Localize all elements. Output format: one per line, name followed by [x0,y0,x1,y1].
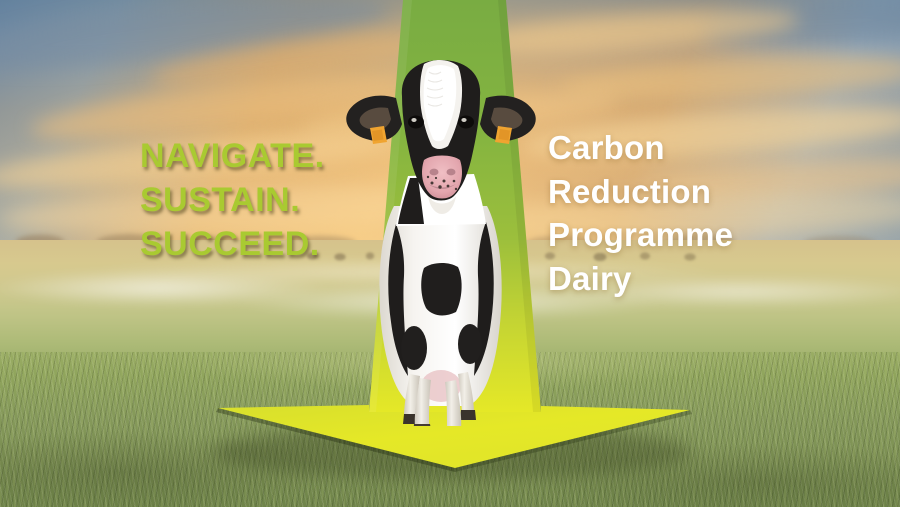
programme-title-line-1: Carbon [548,126,878,170]
ear-tag-right [495,126,512,144]
tagline-headline: NAVIGATE. SUSTAIN. SUCCEED. [140,134,400,267]
cow-eye-left [408,116,424,129]
tagline-line-1: NAVIGATE. [140,134,400,178]
cow-eye-right [458,116,474,129]
tagline-line-2: SUSTAIN. [140,178,400,222]
programme-title: Carbon Reduction Programme Dairy [548,126,878,300]
tagline-line-3: SUCCEED. [140,222,400,266]
programme-title-line-4: Dairy [548,257,878,301]
marketing-banner: NAVIGATE. SUSTAIN. SUCCEED. Carbon Reduc… [0,0,900,507]
programme-title-line-2: Reduction [548,170,878,214]
programme-title-line-3: Programme [548,213,878,257]
